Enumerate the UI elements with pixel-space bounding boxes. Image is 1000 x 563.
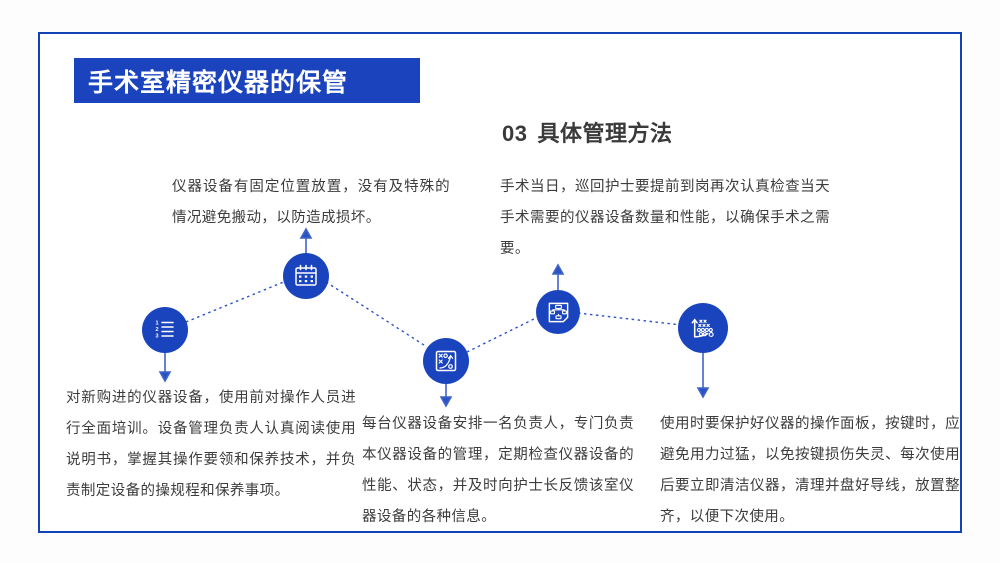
section-title: 具体管理方法 — [537, 121, 672, 146]
page-title: 手术室精密仪器的保管 — [88, 63, 348, 99]
paragraph-top-right: 手术当日，巡回护士要提前到岗再次认真检查当天手术需要的仪器设备数量和性能，以确保… — [500, 172, 830, 265]
calendar-icon — [293, 263, 319, 289]
section-heading: 03具体管理方法 — [502, 116, 673, 148]
svg-text:2: 2 — [156, 327, 159, 333]
paragraph-bottom-right: 使用时要保护好仪器的操作面板，按键时，应避免用力过猛，以免按键损伤失灵、每次使用… — [660, 409, 960, 533]
play-diagram-icon — [689, 314, 718, 343]
icon-node-numbered-list[interactable]: 1 2 3 — [142, 307, 188, 353]
strategy-board-icon — [433, 348, 459, 374]
numbered-list-icon: 1 2 3 — [152, 317, 178, 343]
icon-node-strategy-board[interactable] — [423, 338, 469, 384]
icon-node-flowchart-document[interactable] — [536, 290, 580, 334]
section-number: 03 — [502, 121, 527, 146]
slide-canvas: 手术室精密仪器的保管 03具体管理方法 仪器设备有固定位置放置，没有及特殊的情况… — [0, 0, 1000, 563]
icon-node-calendar[interactable] — [283, 253, 329, 299]
paragraph-bottom-left: 对新购进的仪器设备，使用前对操作人员进行全面培训。设备管理负责人认真阅读使用说明… — [66, 383, 356, 507]
paragraph-bottom-middle: 每台仪器设备安排一名负责人，专门负责本仪器设备的管理，定期检查仪器设备的性能、状… — [362, 409, 634, 533]
title-banner: 手术室精密仪器的保管 — [74, 58, 420, 103]
flowchart-document-icon — [546, 300, 571, 325]
svg-text:3: 3 — [156, 334, 159, 340]
svg-text:1: 1 — [156, 321, 159, 327]
paragraph-top-left: 仪器设备有固定位置放置，没有及特殊的情况避免搬动，以防造成损坏。 — [172, 172, 450, 234]
icon-node-play-diagram[interactable] — [678, 303, 728, 353]
